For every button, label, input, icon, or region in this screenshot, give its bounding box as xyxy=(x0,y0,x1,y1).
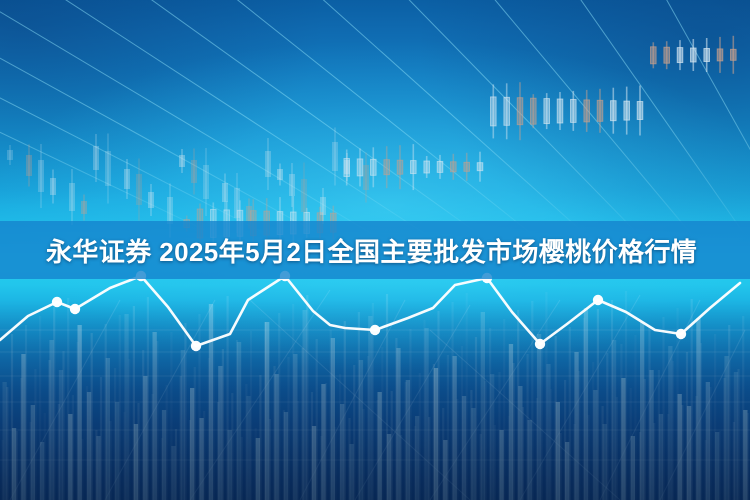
page-title: 永华证券 2025年5月2日全国主要批发市场樱桃价格行情 xyxy=(0,221,750,279)
promo-banner-image: 永华证券 2025年5月2日全国主要批发市场樱桃价格行情 xyxy=(0,0,750,500)
